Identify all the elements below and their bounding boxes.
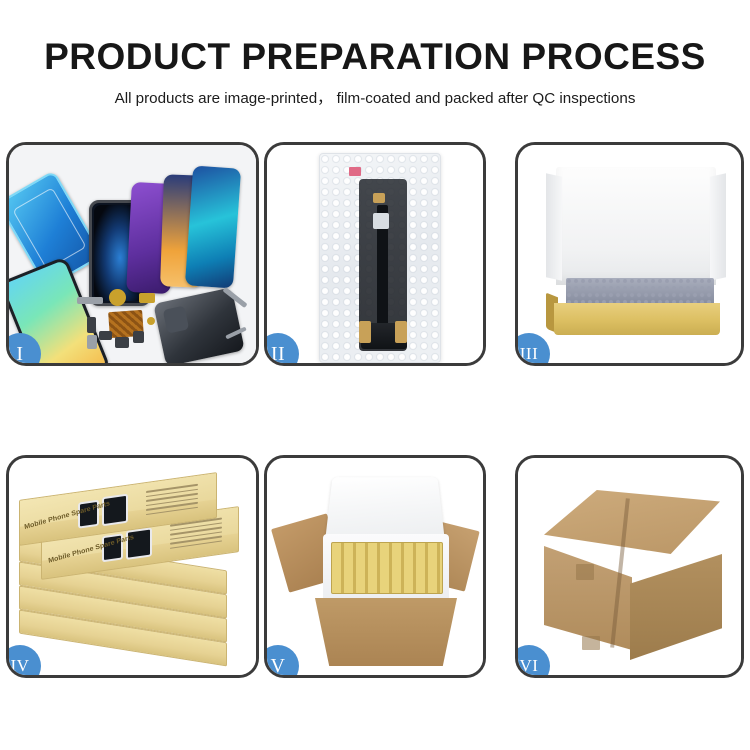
gold-tab-top	[373, 193, 385, 203]
foam-box-lid	[325, 477, 445, 541]
part-camera-ring	[109, 289, 126, 306]
step-panel-4[interactable]: Mobile Phone Spare Parts Mobile Phone Sp…	[6, 455, 259, 678]
part-connector-b	[99, 331, 112, 340]
box-art-screen-d	[126, 527, 152, 560]
box-stack: Mobile Phone Spare Parts Mobile Phone Sp…	[15, 476, 255, 675]
qc-label-sticker	[349, 167, 361, 176]
step-panel-3[interactable]: III	[515, 142, 744, 366]
foam-padding-grey	[566, 278, 714, 306]
box-spec-lines-a	[146, 484, 198, 518]
carton-tape-lower	[582, 636, 600, 650]
part-connector-a	[87, 317, 96, 333]
flex-connector	[373, 213, 389, 229]
packed-retail-boxes	[331, 542, 443, 594]
step-3-image: III	[518, 145, 741, 363]
box-lid-white	[556, 167, 716, 285]
carton-tape-upper	[576, 564, 594, 580]
part-bracket-a	[139, 293, 155, 303]
step-1-image: I	[9, 145, 256, 363]
part-taptic-engine	[115, 337, 129, 348]
part-battery-strip	[77, 297, 103, 304]
box-art-screen-b	[102, 494, 128, 527]
part-screw-set	[147, 317, 155, 325]
gold-tab-right	[395, 321, 407, 343]
step-4-image: Mobile Phone Spare Parts Mobile Phone Sp…	[9, 458, 256, 675]
step-5-image: V	[267, 458, 483, 675]
part-sim-tray	[133, 331, 144, 343]
step-2-image: II	[267, 145, 483, 363]
sealed-carton-top	[544, 490, 720, 554]
step-panel-6[interactable]: VI	[515, 455, 744, 678]
process-step-grid: I II	[0, 0, 750, 750]
step-panel-5[interactable]: V	[264, 455, 486, 678]
step-panel-2[interactable]: II	[264, 142, 486, 366]
gold-tab-left	[359, 321, 371, 343]
part-speaker	[87, 335, 97, 349]
step-panel-1[interactable]: I	[6, 142, 259, 366]
step-6-image: VI	[518, 458, 741, 675]
phone-blue	[185, 165, 241, 288]
box-front-kraft	[554, 303, 720, 335]
sealed-carton-right-face	[630, 554, 722, 660]
carton-body	[315, 598, 457, 666]
